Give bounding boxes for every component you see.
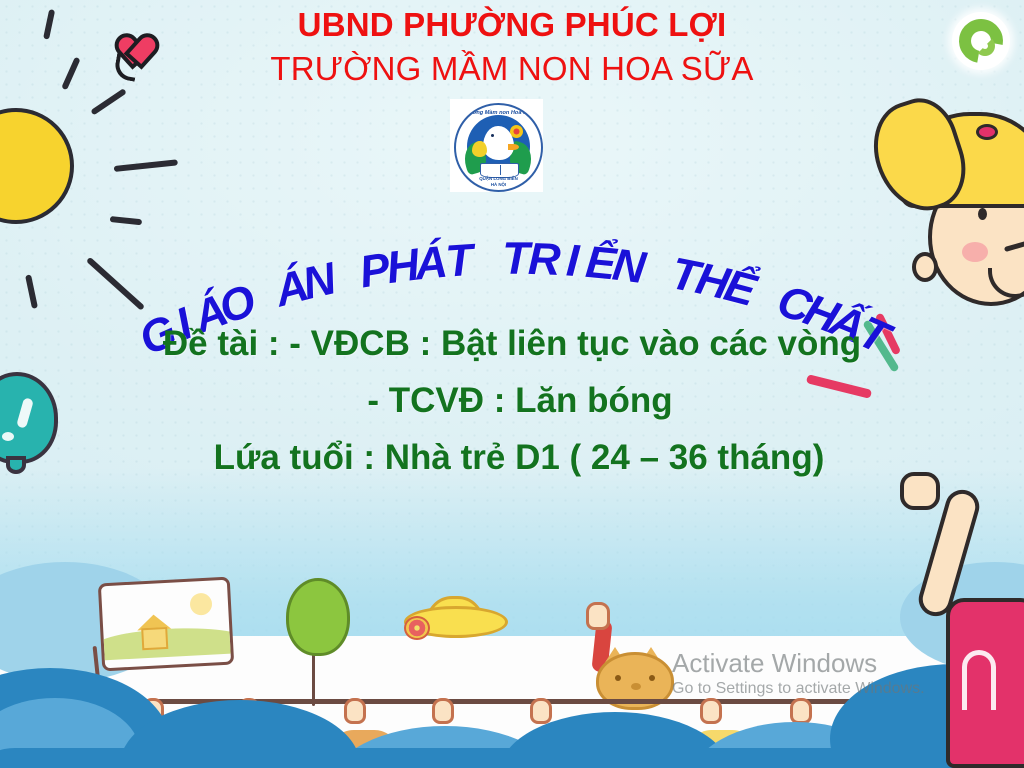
topic-line-2: - TCVĐ : Lăn bóng (0, 381, 1024, 421)
wordart-title: GIÁO ÁN PHÁT TRIỂN THỂ CHẤT (160, 226, 872, 336)
school-logo: Trường Mầm non Hoa Sữa QUẬN LONG BIÊN HÀ… (450, 99, 543, 192)
hand-7 (790, 698, 812, 724)
hand-4 (432, 698, 454, 724)
page-title-line1: UBND PHƯỜNG PHÚC LỢI (0, 6, 1024, 44)
green-balloon-icon (286, 578, 350, 656)
picture-banner (98, 577, 234, 672)
wordart-letter (647, 244, 668, 297)
wordart-letter: N (610, 238, 649, 294)
presentation-slide: UBND PHƯỜNG PHÚC LỢI TRƯỜNG MẦM NON HOA … (0, 0, 1024, 768)
hat-rose-icon (404, 616, 430, 640)
logo-arc-bottom-text: QUẬN LONG BIÊN HÀ NỘI (456, 176, 541, 187)
wordart-letter: I (565, 234, 581, 287)
topic-line-1: Đề tài : - VĐCB : Bật liên tục vào các v… (0, 324, 1024, 364)
cloud-blue-8 (0, 748, 1024, 768)
logo-city-text: HÀ NỘI (456, 182, 541, 187)
raised-hand-icon (586, 602, 610, 630)
wordart-letter: T (502, 233, 530, 285)
hand-5 (530, 698, 552, 724)
page-title-line2: TRƯỜNG MẦM NON HOA SỮA (0, 50, 1024, 88)
wordart-letter (481, 233, 495, 285)
wordart-letter: R (527, 233, 561, 286)
topic-line-3: Lứa tuổi : Nhà trẻ D1 ( 24 – 36 tháng) (0, 438, 1024, 478)
wordart-letter: T (444, 234, 475, 288)
hand-3 (344, 698, 366, 724)
hand-6 (700, 698, 722, 724)
